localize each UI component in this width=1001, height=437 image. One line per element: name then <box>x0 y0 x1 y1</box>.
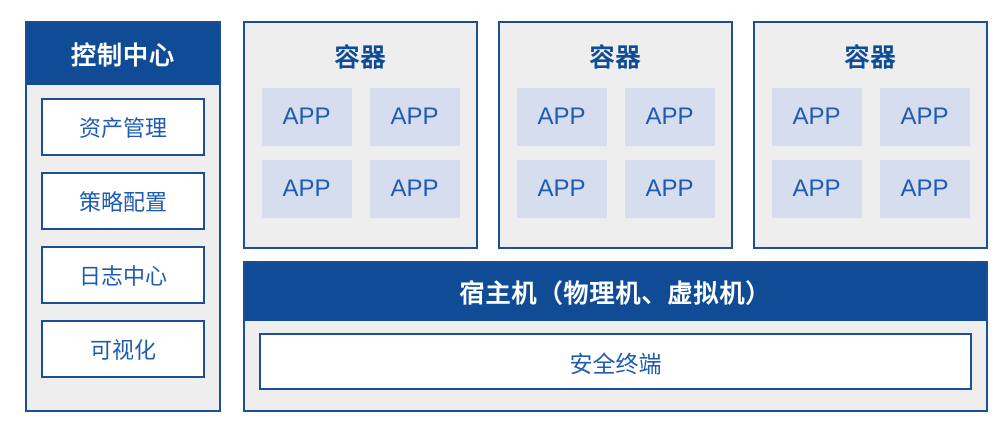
container-box-1: 容器 APP APP APP APP <box>243 21 478 249</box>
host-machine-title: 宿主机（物理机、虚拟机） <box>245 263 986 321</box>
app-box[interactable]: APP <box>262 88 352 146</box>
container-title: 容器 <box>844 38 896 74</box>
host-machine-body: 安全终端 <box>245 321 986 402</box>
menu-item-asset-management[interactable]: 资产管理 <box>41 98 205 156</box>
app-box[interactable]: APP <box>370 160 460 218</box>
container-box-2: 容器 APP APP APP APP <box>498 21 733 249</box>
container-title: 容器 <box>589 38 641 74</box>
menu-item-policy-configuration[interactable]: 策略配置 <box>41 172 205 230</box>
host-machine-panel: 宿主机（物理机、虚拟机） 安全终端 <box>243 261 988 412</box>
app-grid: APP APP APP APP <box>517 88 715 232</box>
app-grid: APP APP APP APP <box>772 88 970 232</box>
menu-item-visualization[interactable]: 可视化 <box>41 320 205 378</box>
control-center-panel: 控制中心 资产管理 策略配置 日志中心 可视化 <box>25 21 221 412</box>
app-box[interactable]: APP <box>370 88 460 146</box>
security-terminal-box[interactable]: 安全终端 <box>259 333 972 390</box>
container-box-3: 容器 APP APP APP APP <box>753 21 988 249</box>
app-grid: APP APP APP APP <box>262 88 460 232</box>
control-center-title: 控制中心 <box>27 23 219 85</box>
app-box[interactable]: APP <box>772 88 862 146</box>
app-box[interactable]: APP <box>517 160 607 218</box>
menu-item-log-center[interactable]: 日志中心 <box>41 246 205 304</box>
app-box[interactable]: APP <box>625 88 715 146</box>
app-box[interactable]: APP <box>880 88 970 146</box>
app-box[interactable]: APP <box>880 160 970 218</box>
app-box[interactable]: APP <box>625 160 715 218</box>
app-box[interactable]: APP <box>517 88 607 146</box>
architecture-diagram: 控制中心 资产管理 策略配置 日志中心 可视化 容器 APP APP APP A… <box>0 0 1001 437</box>
control-center-menu: 资产管理 策略配置 日志中心 可视化 <box>27 85 219 378</box>
containers-row: 容器 APP APP APP APP 容器 APP APP APP APP 容器… <box>243 21 988 249</box>
container-title: 容器 <box>334 38 386 74</box>
app-box[interactable]: APP <box>262 160 352 218</box>
app-box[interactable]: APP <box>772 160 862 218</box>
